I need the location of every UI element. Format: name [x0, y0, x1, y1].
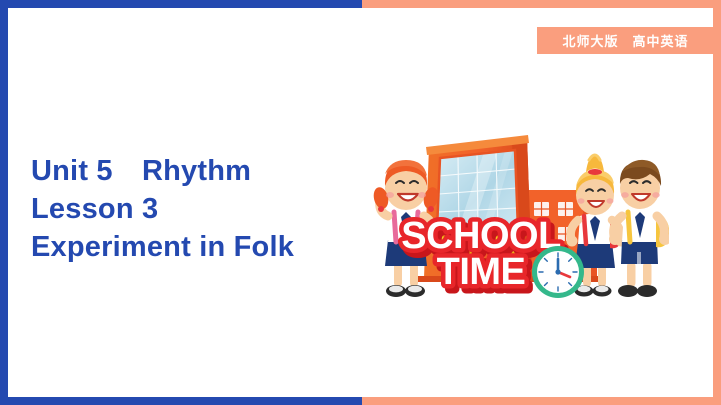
title-line-experiment: Experiment in Folk — [31, 228, 361, 266]
frame-right-segment — [713, 0, 721, 405]
slide-canvas: 北师大版 高中英语 Unit 5 Rhythm Lesson 3 Experim… — [0, 0, 721, 405]
frame-top-right-segment — [362, 0, 721, 8]
textbook-edition-banner: 北师大版 高中英语 — [537, 27, 714, 54]
frame-bottom-left-segment — [0, 397, 362, 405]
frame-top-left-segment — [0, 0, 362, 8]
title-line-unit: Unit 5 Rhythm — [31, 152, 361, 190]
school-time-illustration: SCHOOL — [372, 112, 669, 322]
school-time-logo-line2: TIME — [437, 251, 526, 293]
frame-bottom-right-segment — [362, 397, 721, 405]
clock-icon — [532, 246, 584, 298]
page-title: Unit 5 Rhythm Lesson 3 Experiment in Fol… — [31, 152, 361, 266]
child-boy-brown-hair — [609, 160, 669, 297]
frame-left-segment — [0, 0, 8, 405]
textbook-edition-label: 北师大版 高中英语 — [562, 31, 688, 50]
title-line-lesson: Lesson 3 — [31, 190, 361, 228]
